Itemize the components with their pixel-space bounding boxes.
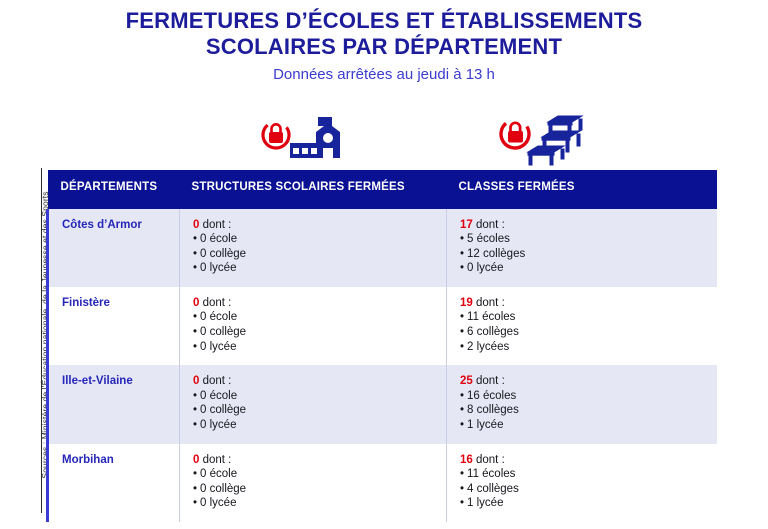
list-item: 0 lycée bbox=[193, 496, 446, 511]
total-count: 19 bbox=[460, 297, 473, 309]
breakdown-list: 11 écoles4 collèges1 lycée bbox=[460, 467, 717, 511]
total-suffix: dont : bbox=[473, 375, 505, 387]
padlock-body bbox=[508, 123, 523, 143]
table-row: Ille-et-Vilaine0 dont :0 école0 collège0… bbox=[48, 365, 717, 443]
locked-classroom-desks-icon bbox=[486, 112, 596, 168]
list-item: 12 collèges bbox=[460, 247, 717, 262]
list-item: 16 écoles bbox=[460, 389, 717, 404]
list-item: 6 collèges bbox=[460, 325, 717, 340]
column-header-classes: CLASSES FERMÉES bbox=[447, 170, 717, 209]
cell-structures-closed: 0 dont :0 école0 collège0 lycée bbox=[180, 287, 447, 365]
page-title: FERMETURES D’ÉCOLES ET ÉTABLISSEMENTS SC… bbox=[74, 8, 694, 60]
list-item: 5 écoles bbox=[460, 232, 717, 247]
total-suffix: dont : bbox=[473, 454, 505, 466]
list-item: 11 écoles bbox=[460, 310, 717, 325]
total-count: 17 bbox=[460, 219, 473, 231]
total-suffix: dont : bbox=[473, 297, 505, 309]
list-item: 0 lycée bbox=[193, 261, 446, 276]
breakdown-list: 0 école0 collège0 lycée bbox=[193, 389, 446, 433]
cell-classes-closed: 19 dont :11 écoles6 collèges2 lycées bbox=[447, 287, 717, 365]
list-item: 0 école bbox=[193, 232, 446, 247]
title-block: FERMETURES D’ÉCOLES ET ÉTABLISSEMENTS SC… bbox=[0, 8, 768, 84]
cell-classes-closed: 17 dont :5 écoles12 collèges0 lycée bbox=[447, 209, 717, 287]
total-suffix: dont : bbox=[199, 297, 231, 309]
cell-structures-closed: 0 dont :0 école0 collège0 lycée bbox=[180, 209, 447, 287]
cell-department: Finistère bbox=[48, 287, 180, 365]
total-line: 0 dont : bbox=[193, 374, 446, 389]
list-item: 4 collèges bbox=[460, 482, 717, 497]
total-line: 19 dont : bbox=[460, 296, 717, 311]
list-item: 1 lycée bbox=[460, 496, 717, 511]
total-line: 0 dont : bbox=[193, 296, 446, 311]
cell-structures-closed: 0 dont :0 école0 collège0 lycée bbox=[180, 444, 447, 522]
table-row: Côtes d’Armor0 dont :0 école0 collège0 l… bbox=[48, 209, 717, 287]
column-header-structures: STRUCTURES SCOLAIRES FERMÉES bbox=[180, 170, 447, 209]
breakdown-list: 11 écoles6 collèges2 lycées bbox=[460, 310, 717, 354]
list-item: 0 collège bbox=[193, 325, 446, 340]
breakdown-list: 0 école0 collège0 lycée bbox=[193, 232, 446, 276]
column-header-departments: DÉPARTEMENTS bbox=[48, 170, 180, 209]
total-suffix: dont : bbox=[199, 454, 231, 466]
breakdown-list: 16 écoles8 collèges1 lycée bbox=[460, 389, 717, 433]
list-item: 0 lycée bbox=[193, 418, 446, 433]
total-suffix: dont : bbox=[199, 375, 231, 387]
cell-department: Côtes d’Armor bbox=[48, 209, 180, 287]
cell-department: Morbihan bbox=[48, 444, 180, 522]
total-line: 17 dont : bbox=[460, 218, 717, 233]
list-item: 0 lycée bbox=[460, 261, 717, 276]
list-item: 0 collège bbox=[193, 403, 446, 418]
list-item: 0 lycée bbox=[193, 340, 446, 355]
total-line: 25 dont : bbox=[460, 374, 717, 389]
total-suffix: dont : bbox=[473, 219, 505, 231]
closures-table: DÉPARTEMENTS STRUCTURES SCOLAIRES FERMÉE… bbox=[46, 170, 717, 522]
total-count: 25 bbox=[460, 375, 473, 387]
total-count: 16 bbox=[460, 454, 473, 466]
breakdown-list: 0 école0 collège0 lycée bbox=[193, 467, 446, 511]
breakdown-list: 5 écoles12 collèges0 lycée bbox=[460, 232, 717, 276]
school-building bbox=[290, 117, 340, 158]
list-item: 2 lycées bbox=[460, 340, 717, 355]
table-body: Côtes d’Armor0 dont :0 école0 collège0 l… bbox=[48, 209, 717, 523]
page-subtitle: Données arrêtées au jeudi à 13 h bbox=[0, 66, 768, 84]
table-row: Morbihan0 dont :0 école0 collège0 lycée1… bbox=[48, 444, 717, 522]
list-item: 8 collèges bbox=[460, 403, 717, 418]
table-header-row: DÉPARTEMENTS STRUCTURES SCOLAIRES FERMÉE… bbox=[48, 170, 717, 209]
list-item: 0 école bbox=[193, 389, 446, 404]
cell-structures-closed: 0 dont :0 école0 collège0 lycée bbox=[180, 365, 447, 443]
padlock-body bbox=[269, 124, 283, 143]
list-item: 0 collège bbox=[193, 482, 446, 497]
list-item: 0 école bbox=[193, 310, 446, 325]
total-line: 16 dont : bbox=[460, 453, 717, 468]
total-suffix: dont : bbox=[199, 219, 231, 231]
list-item: 11 écoles bbox=[460, 467, 717, 482]
list-item: 1 lycée bbox=[460, 418, 717, 433]
desk-bottom bbox=[528, 146, 564, 165]
total-line: 0 dont : bbox=[193, 453, 446, 468]
cell-classes-closed: 25 dont :16 écoles8 collèges1 lycée bbox=[447, 365, 717, 443]
list-item: 0 collège bbox=[193, 247, 446, 262]
list-item: 0 école bbox=[193, 467, 446, 482]
cell-classes-closed: 16 dont :11 écoles4 collèges1 lycée bbox=[447, 444, 717, 522]
total-line: 0 dont : bbox=[193, 218, 446, 233]
cell-department: Ille-et-Vilaine bbox=[48, 365, 180, 443]
table-row: Finistère0 dont :0 école0 collège0 lycée… bbox=[48, 287, 717, 365]
locked-school-icon bbox=[246, 112, 356, 168]
breakdown-list: 0 école0 collège0 lycée bbox=[193, 310, 446, 354]
